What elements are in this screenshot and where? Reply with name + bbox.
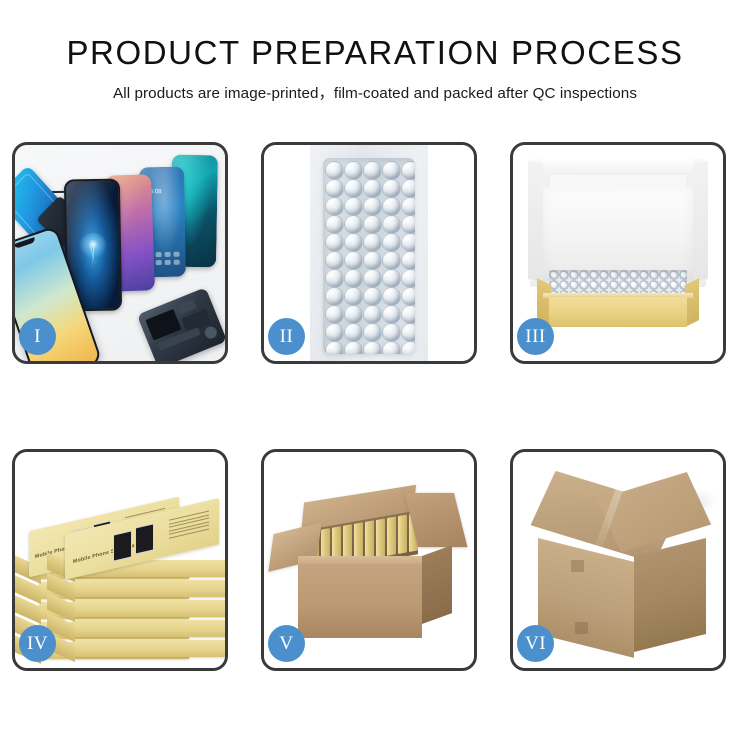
step-card-1: 06:08 xyxy=(12,142,228,364)
carton-front-panel-icon xyxy=(298,564,422,638)
box-inner-panel-icon xyxy=(543,187,693,281)
step-badge-5: V xyxy=(268,625,305,662)
retail-box-icon xyxy=(73,620,225,637)
step-badge-3: III xyxy=(517,318,554,355)
retail-box-icon xyxy=(73,580,225,597)
step-badge-6: VI xyxy=(517,625,554,662)
box-artwork-screen-icon xyxy=(135,523,154,554)
step-badge-4: IV xyxy=(19,625,56,662)
step-card-5: V xyxy=(261,449,477,671)
box-front-panel-icon xyxy=(549,297,687,327)
page-subtitle: All products are image-printed，film-coat… xyxy=(0,81,750,103)
bubble-wrap-pack-icon xyxy=(323,158,415,354)
retail-box-icon xyxy=(73,600,225,617)
box-artwork-screen-icon xyxy=(113,530,132,561)
box-lid-top-icon xyxy=(543,159,693,175)
carton-side-panel-icon xyxy=(422,545,452,624)
step-card-6: VI xyxy=(510,449,726,671)
box-side-right-icon xyxy=(685,278,699,327)
page-title: PRODUCT PREPARATION PROCESS xyxy=(0,36,750,71)
step-card-3: III xyxy=(510,142,726,364)
carton-hand-hole-2-icon xyxy=(575,622,588,634)
step-badge-2: II xyxy=(268,318,305,355)
step-card-4: Mobile Phone Spare Parts Mobile Phone Sp… xyxy=(12,449,228,671)
carton-right-panel-icon xyxy=(634,538,706,652)
process-steps-grid: 06:08 xyxy=(12,142,738,671)
carton-hand-hole-icon xyxy=(571,560,584,572)
retail-box-icon xyxy=(73,640,225,657)
step-card-2: II xyxy=(261,142,477,364)
step-badge-1: I xyxy=(19,318,56,355)
page-header: PRODUCT PREPARATION PROCESS All products… xyxy=(0,0,750,103)
